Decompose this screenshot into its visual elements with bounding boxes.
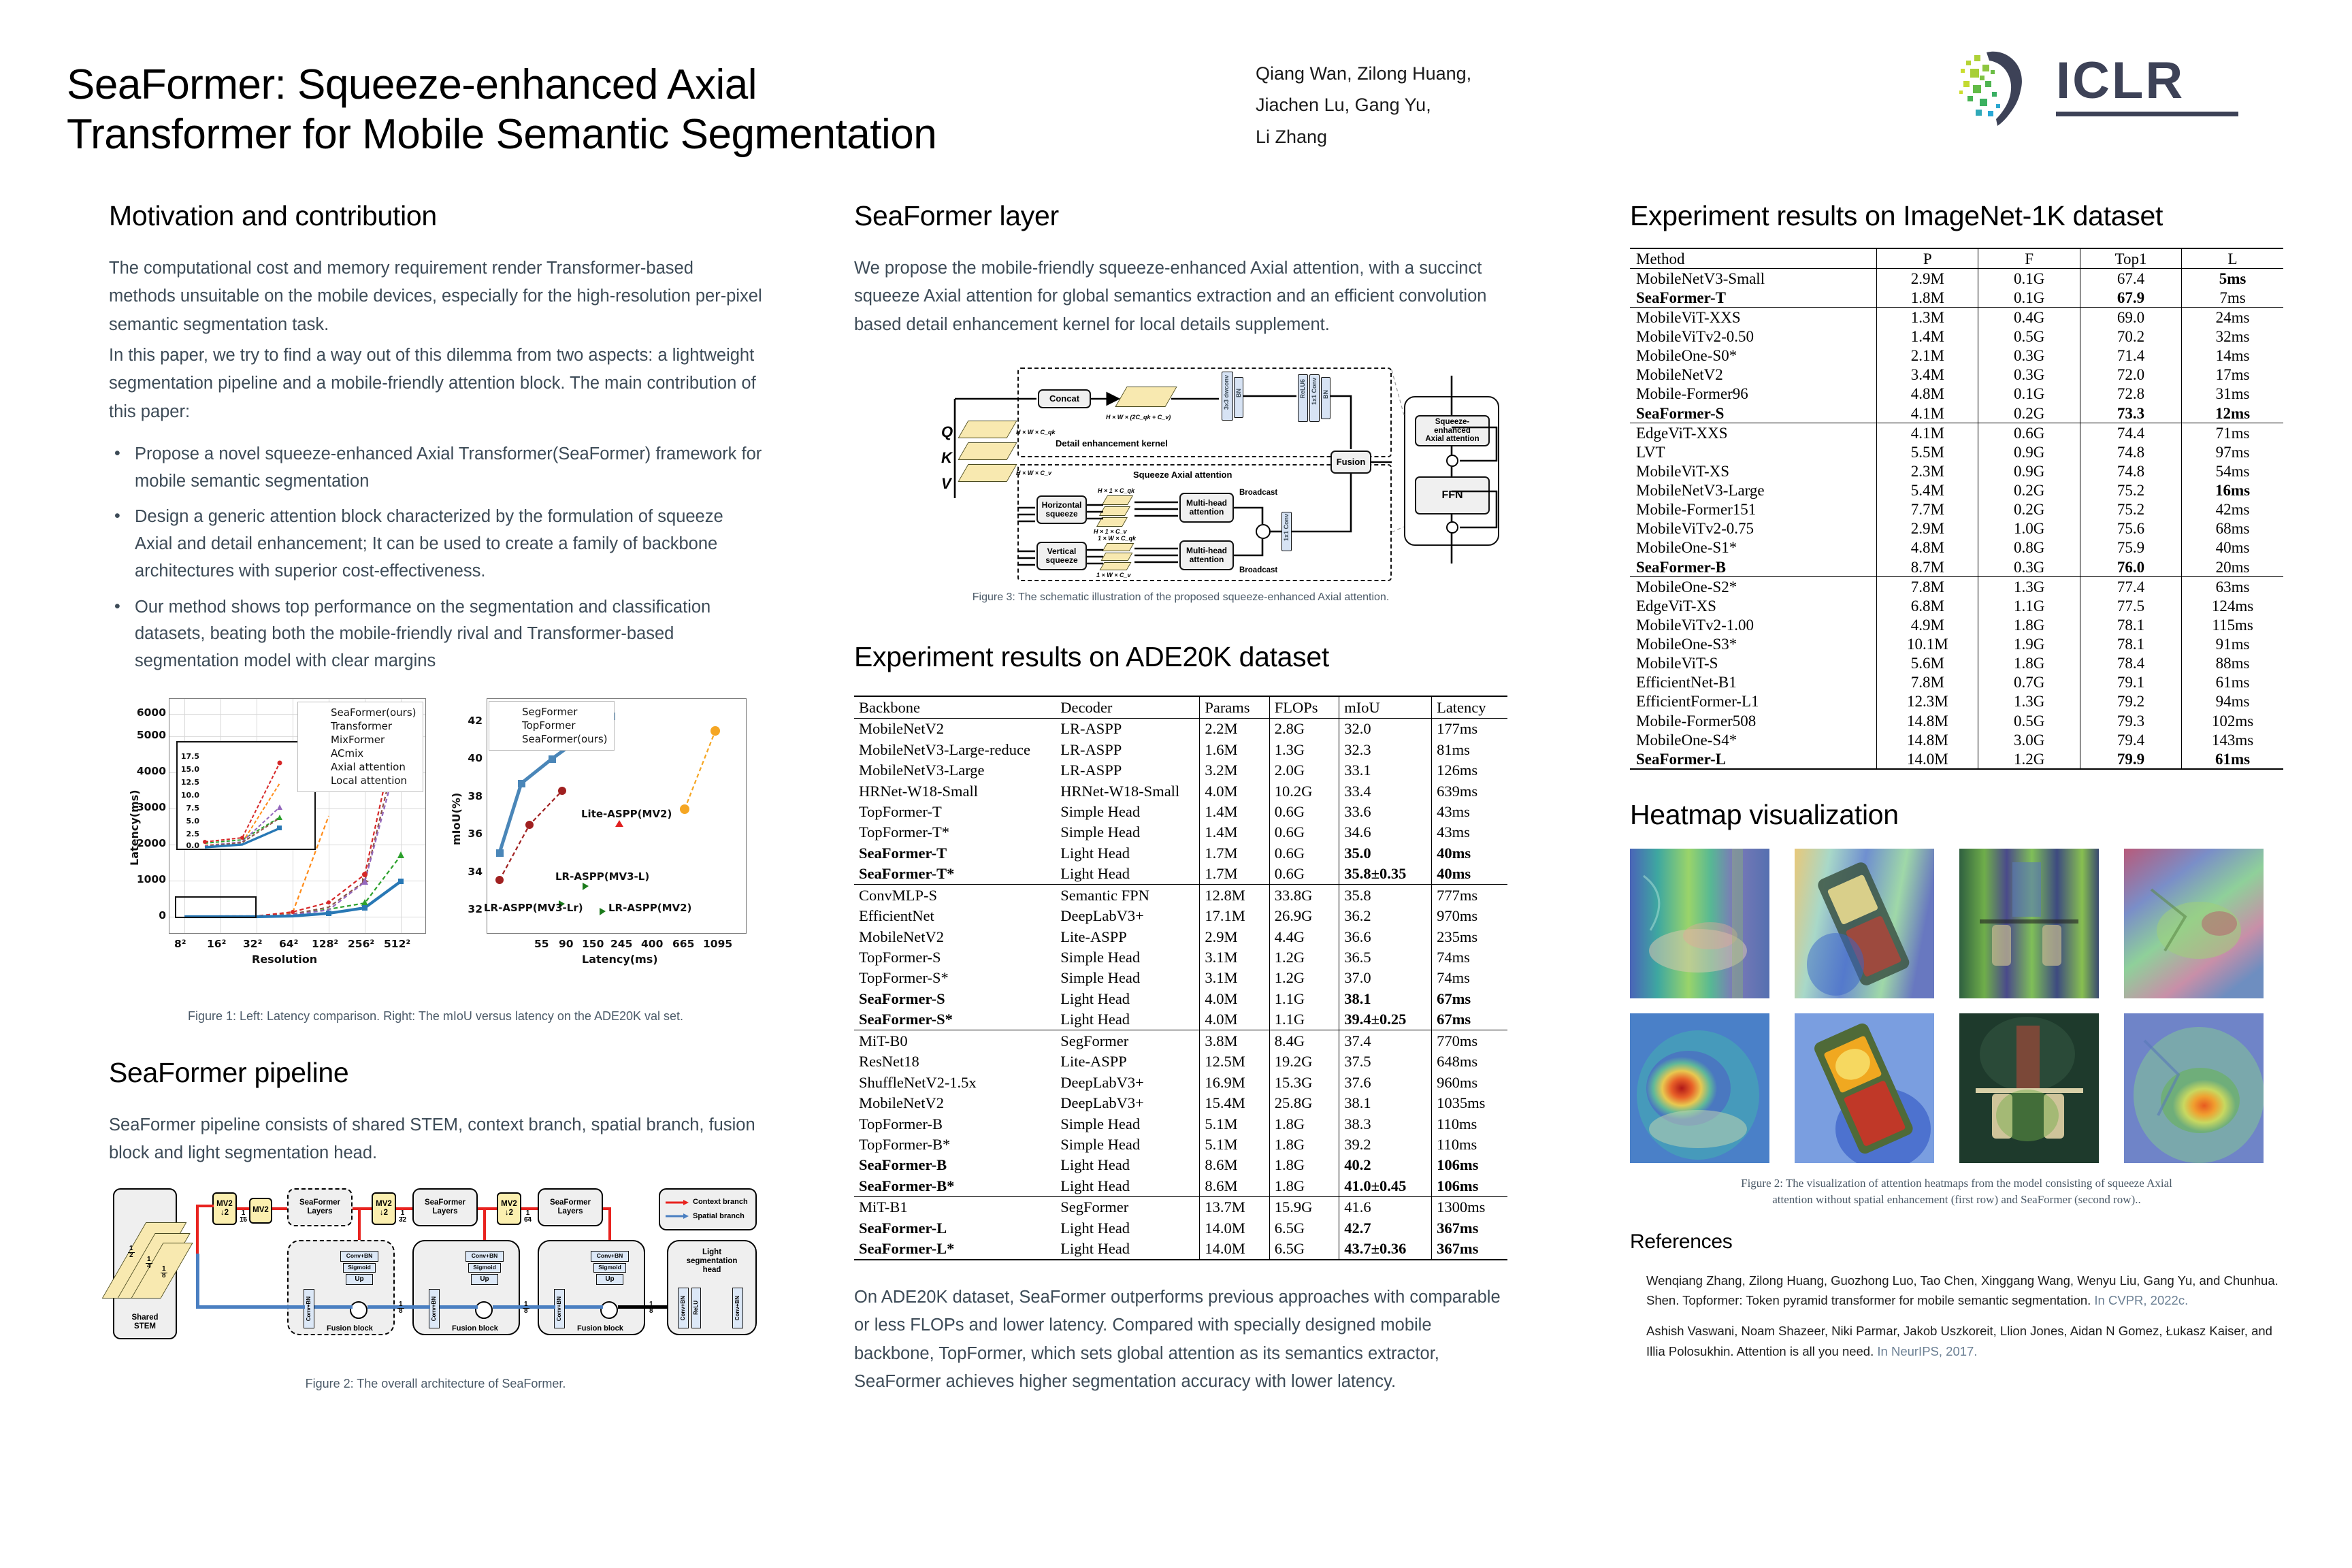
annotation-lr-aspp-mv3lr: LR-ASPP(MV3-Lr): [484, 902, 583, 914]
annotation-lite-aspp: Lite-ASPP(MV2): [581, 808, 672, 820]
concat-block: Concat: [1038, 389, 1091, 408]
cell-top1: 74.8: [2080, 461, 2181, 480]
cell-params: 2.1M: [1877, 346, 1978, 365]
squeeze-axial-label: Squeeze Axial attention: [1133, 470, 1232, 480]
hsq-sheet-1: [1102, 495, 1133, 505]
table-header-row: Backbone Decoder Params FLOPs mIoU Laten…: [854, 696, 1507, 718]
cell-backbone: TopFormer-B: [854, 1113, 1056, 1134]
cell-latency: 61ms: [2182, 749, 2283, 769]
cell-top1: 78.1: [2080, 615, 2181, 634]
mv2-down-2: MV2↓2: [372, 1192, 396, 1225]
table-row: SeaFormer-L14.0M1.2G79.961ms: [1630, 749, 2283, 769]
cell-latency: 67ms: [1432, 988, 1507, 1009]
cell-params: 5.4M: [1877, 481, 1978, 500]
table-row: SeaFormer-T1.8M0.1G67.97ms: [1630, 288, 2283, 308]
cell-latency: 235ms: [1432, 926, 1507, 947]
cell-miou: 37.5: [1339, 1051, 1432, 1072]
cell-latency: 81ms: [1432, 739, 1507, 759]
cell-params: 5.6M: [1877, 654, 1978, 673]
cell-miou: 33.6: [1339, 801, 1432, 821]
table-row: ResNet18Lite-ASPP12.5M19.2G37.5648ms: [854, 1051, 1507, 1072]
seaformer-layers-2: SeaFormerLayers: [412, 1188, 478, 1226]
col-method: Method: [1630, 248, 1877, 269]
cell-miou: 38.3: [1339, 1113, 1432, 1134]
table-row: EdgeViT-XXS4.1M0.6G74.471ms: [1630, 423, 2283, 443]
cell-flops: 6.5G: [1269, 1218, 1339, 1238]
cell-latency: 20ms: [2182, 557, 2283, 577]
cell-miou: 35.0: [1339, 843, 1432, 863]
x-tick: 16²: [207, 938, 226, 950]
chart-legend: SegFormer TopFormer SeaFormer(ours): [489, 701, 615, 751]
cell-method: MobileOne-S0*: [1630, 346, 1877, 365]
sigmoid-1: Sigmoid: [343, 1263, 376, 1273]
chart-inset: 17.5 15.0 12.5 10.0 7.5 5.0 2.5 0.0: [176, 741, 316, 850]
cell-latency: 71ms: [2182, 423, 2283, 443]
y-tick: 5000: [125, 729, 166, 741]
cell-params: 3.1M: [1200, 968, 1269, 988]
cell-latency: 110ms: [1432, 1134, 1507, 1154]
cell-latency: 17ms: [2182, 365, 2283, 385]
table-row: MobileNetV3-LargeLR-ASPP3.2M2.0G33.1126m…: [854, 760, 1507, 781]
ade20k-conclusion: On ADE20K dataset, SeaFormer outperforms…: [854, 1284, 1507, 1396]
conv1x1-block-1: 1x1 Conv: [1309, 374, 1320, 422]
fusion-block-label-1: Fusion block: [327, 1324, 373, 1333]
legend-label: SegFormer: [522, 706, 577, 718]
figure-2-pipeline: SharedSTEM 12 14 18 MV2↓2 MV2 SeaFormerL…: [109, 1180, 762, 1371]
cell-miou: 33.4: [1339, 781, 1432, 801]
seaformer-layer-para: We propose the mobile-friendly squeeze-e…: [854, 255, 1507, 339]
latency-comparison-chart: 17.5 15.0 12.5 10.0 7.5 5.0 2.5 0.0: [116, 696, 432, 978]
residual-add-1: [1446, 455, 1458, 467]
fusion-block: Fusion: [1330, 451, 1371, 474]
cell-params: 2.9M: [1200, 926, 1269, 947]
annotation-lr-aspp-mv2: LR-ASPP(MV2): [608, 902, 691, 914]
cell-top1: 79.3: [2080, 711, 2181, 730]
table-row: MobileOne-S3*10.1M1.9G78.191ms: [1630, 635, 2283, 654]
cell-decoder: Light Head: [1056, 988, 1200, 1009]
motivation-heading: Motivation and contribution: [109, 201, 762, 231]
multiply-node-1: [350, 1301, 367, 1319]
cell-latency: 367ms: [1432, 1218, 1507, 1238]
heatmap-fish-seaformer: [1630, 1013, 1769, 1163]
table-row: MobileViT-S5.6M1.8G78.488ms: [1630, 654, 2283, 673]
chart-legend: SeaFormer(ours) Transformer MixFormer: [297, 702, 423, 792]
q-sheet: [958, 421, 1017, 438]
cell-decoder: DeepLabV3+: [1056, 906, 1200, 926]
cell-backbone: SeaFormer-T*: [854, 864, 1056, 885]
stem-frac-quarter: 14: [146, 1256, 152, 1270]
table-row: MobileNetV23.4M0.3G72.017ms: [1630, 365, 2283, 385]
cell-params: 2.9M: [1877, 519, 1978, 538]
sigmoid-2: Sigmoid: [468, 1263, 501, 1273]
cell-params: 1.4M: [1200, 822, 1269, 843]
cell-latency: 1035ms: [1432, 1093, 1507, 1113]
heatmap-phone-axial: [1795, 849, 1934, 998]
cell-flops: 1.8G: [1978, 615, 2080, 634]
cell-miou: 38.1: [1339, 1093, 1432, 1113]
cell-latency: 16ms: [2182, 481, 2283, 500]
cell-latency: 74ms: [1432, 947, 1507, 968]
table-row: SeaFormer-S*Light Head4.0M1.1G39.4±0.256…: [854, 1009, 1507, 1030]
heatmap-phone-seaformer: [1795, 1013, 1934, 1163]
cell-params: 1.3M: [1877, 308, 1978, 327]
cell-params: 8.6M: [1200, 1175, 1269, 1196]
conv-bn-up-2: Conv+BN: [465, 1251, 504, 1262]
cell-method: Mobile-Former508: [1630, 711, 1877, 730]
cell-flops: 6.5G: [1269, 1239, 1339, 1260]
broadcast-label-top: Broadcast: [1239, 489, 1277, 497]
title-line-2: Transformer for Mobile Semantic Segmenta…: [67, 110, 1169, 159]
vsq-sheet-2: [1101, 553, 1133, 561]
mv2-block: MV2: [249, 1198, 272, 1224]
table-row: EfficientNetDeepLabV3+17.1M26.9G36.2970m…: [854, 906, 1507, 926]
heatmap-image: [2124, 849, 2264, 998]
cell-method: EdgeViT-XS: [1630, 596, 1877, 615]
cell-top1: 75.2: [2080, 500, 2181, 519]
iclr-text: ICLR: [2056, 56, 2238, 105]
cell-latency: 88ms: [2182, 654, 2283, 673]
cell-latency: 40ms: [2182, 538, 2283, 557]
cell-flops: 1.8G: [1269, 1113, 1339, 1134]
cell-flops: 0.4G: [1978, 308, 2080, 327]
cell-params: 8.7M: [1877, 557, 1978, 577]
cell-params: 3.8M: [1200, 1030, 1269, 1051]
table-row: EdgeViT-XS6.8M1.1G77.5124ms: [1630, 596, 2283, 615]
table-row: EfficientNet-B17.8M0.7G79.161ms: [1630, 673, 2283, 692]
cell-params: 1.8M: [1877, 288, 1978, 308]
cell-decoder: DeepLabV3+: [1056, 1072, 1200, 1092]
table-row: SeaFormer-LLight Head14.0M6.5G42.7367ms: [854, 1218, 1507, 1238]
sea-attention-block: Squeeze-enhancedAxial attention: [1415, 415, 1490, 446]
cell-params: 4.8M: [1877, 385, 1978, 404]
legend-item-spatial: Spatial branch: [666, 1212, 745, 1220]
cell-flops: 0.9G: [1978, 442, 2080, 461]
conv-bn-spatial-2: Conv+BN: [429, 1289, 440, 1328]
cell-flops: 0.2G: [1978, 404, 2080, 423]
reference-venue: In CVPR, 2022c.: [2094, 1293, 2188, 1307]
miou-latency-chart: Lite-ASPP(MV2) LR-ASPP(MV3-L) LR-ASPP(MV…: [446, 696, 755, 978]
heatmap-caption: Figure 2: The visualization of attention…: [1630, 1175, 2283, 1209]
cell-flops: 0.6G: [1269, 801, 1339, 821]
cell-params: 5.1M: [1200, 1134, 1269, 1154]
cell-flops: 1.3G: [1978, 692, 2080, 711]
cell-method: SeaFormer-B: [1630, 557, 1877, 577]
iclr-logo: ICLR: [1957, 42, 2256, 131]
cell-method: MobileViTv2-0.50: [1630, 327, 1877, 346]
y-tick: 6000: [125, 706, 166, 719]
chart-plot-area: Lite-ASPP(MV2) LR-ASPP(MV3-L) LR-ASPP(MV…: [487, 698, 747, 934]
vertical-squeeze-block: Verticalsqueeze: [1036, 542, 1087, 570]
cell-decoder: Light Head: [1056, 864, 1200, 885]
cell-flops: 0.9G: [1978, 461, 2080, 480]
frac-8-a: 18: [397, 1301, 404, 1315]
legend-label: ACmix: [331, 747, 363, 759]
lr-aspp-mv2-marker: [600, 908, 606, 915]
col-top1: Top1: [2080, 248, 2181, 269]
cell-top1: 79.1: [2080, 673, 2181, 692]
ade20k-table-body: MobileNetV2LR-ASPP2.2M2.8G32.0177msMobil…: [854, 718, 1507, 1260]
cell-latency: 61ms: [2182, 673, 2283, 692]
cell-method: Mobile-Former151: [1630, 500, 1877, 519]
page-title: SeaFormer: Squeeze-enhanced Axial Transf…: [67, 60, 1169, 159]
table-row: MobileViTv2-0.752.9M1.0G75.668ms: [1630, 519, 2283, 538]
dim-h-v: H × 1 × C_v: [1094, 528, 1127, 535]
dwconv-block: 3x3 dwconv: [1222, 372, 1233, 421]
table-row: SeaFormer-TLight Head1.7M0.6G35.040ms: [854, 843, 1507, 863]
heatmap-grid: [1630, 849, 2283, 1163]
cell-params: 12.8M: [1200, 885, 1269, 906]
table-row: SeaFormer-BLight Head8.6M1.8G40.2106ms: [854, 1155, 1507, 1175]
sigmoid-3: Sigmoid: [593, 1263, 626, 1273]
cell-params: 4.1M: [1877, 404, 1978, 423]
q-label: Q: [941, 423, 953, 441]
cell-miou: 42.7: [1339, 1218, 1432, 1238]
cell-params: 4.0M: [1200, 781, 1269, 801]
table-row: SeaFormer-B8.7M0.3G76.020ms: [1630, 557, 2283, 577]
table-row: MobileViT-XXS1.3M0.4G69.024ms: [1630, 308, 2283, 327]
references-heading: References: [1630, 1230, 2283, 1253]
cell-miou: 35.8±0.35: [1339, 864, 1432, 885]
multiply-node-3: [600, 1301, 618, 1319]
shared-stem-label: SharedSTEM: [132, 1313, 159, 1331]
cell-flops: 1.1G: [1978, 596, 2080, 615]
y-axis-label: Latency(ms): [128, 789, 141, 866]
cell-top1: 74.4: [2080, 423, 2181, 443]
cell-method: MobileOne-S2*: [1630, 577, 1877, 597]
cell-decoder: Light Head: [1056, 1239, 1200, 1260]
iclr-brain-icon: [1957, 46, 2038, 127]
cell-latency: 115ms: [2182, 615, 2283, 634]
cell-latency: 40ms: [1432, 843, 1507, 863]
cell-backbone: MobileNetV2: [854, 718, 1056, 739]
x-tick: 55: [534, 938, 549, 950]
cell-top1: 69.0: [2080, 308, 2181, 327]
cell-params: 1.7M: [1200, 864, 1269, 885]
heatmap-image: [1630, 1013, 1769, 1163]
cell-latency: 5ms: [2182, 269, 2283, 289]
cell-decoder: LR-ASPP: [1056, 760, 1200, 781]
table-row: MobileNetV3-Large-reduceLR-ASPP1.6M1.3G3…: [854, 739, 1507, 759]
cell-flops: 0.1G: [1978, 385, 2080, 404]
cell-params: 4.1M: [1877, 423, 1978, 443]
cell-method: MobileViTv2-1.00: [1630, 615, 1877, 634]
frac-16: 116: [240, 1210, 247, 1224]
cell-flops: 2.0G: [1269, 760, 1339, 781]
table-row: MobileViT-XS2.3M0.9G74.854ms: [1630, 461, 2283, 480]
cell-params: 4.0M: [1200, 988, 1269, 1009]
cell-backbone: MobileNetV3-Large: [854, 760, 1056, 781]
reference-venue: In NeurIPS, 2017.: [1877, 1344, 1977, 1358]
legend-item: Transformer: [303, 719, 416, 733]
cell-params: 6.8M: [1877, 596, 1978, 615]
cell-flops: 1.8G: [1978, 654, 2080, 673]
cell-decoder: Lite-ASPP: [1056, 926, 1200, 947]
cell-latency: 777ms: [1432, 885, 1507, 906]
cell-params: 1.4M: [1200, 801, 1269, 821]
cell-decoder: Simple Head: [1056, 947, 1200, 968]
cell-method: MobileNetV2: [1630, 365, 1877, 385]
head-conv-bn-1: Conv+BN: [678, 1288, 689, 1328]
cell-latency: 110ms: [1432, 1113, 1507, 1134]
cell-flops: 0.2G: [1978, 481, 2080, 500]
legend-item: ACmix: [303, 747, 416, 760]
cell-decoder: DeepLabV3+: [1056, 1093, 1200, 1113]
y-tick: 32: [453, 903, 483, 915]
cell-params: 2.3M: [1877, 461, 1978, 480]
cell-top1: 77.5: [2080, 596, 2181, 615]
cell-params: 17.1M: [1200, 906, 1269, 926]
cell-params: 4.9M: [1877, 615, 1978, 634]
cell-method: MobileViT-S: [1630, 654, 1877, 673]
col-decoder: Decoder: [1056, 696, 1200, 718]
cell-method: LVT: [1630, 442, 1877, 461]
cell-latency: 367ms: [1432, 1239, 1507, 1260]
cell-latency: 40ms: [1432, 864, 1507, 885]
relu6-block: ReLU6: [1298, 374, 1308, 422]
up-2: Up: [471, 1274, 498, 1285]
heatmap-caption-line-2: attention without spatial enhancement (f…: [1630, 1192, 2283, 1209]
conv-bn-spatial-1: Conv+BN: [304, 1289, 314, 1328]
table-row: MiT-B1SegFormer13.7M15.9G41.61300ms: [854, 1196, 1507, 1218]
v-label: V: [941, 475, 951, 493]
cell-decoder: SegFormer: [1056, 1196, 1200, 1218]
legend-item: Local attention: [303, 774, 416, 787]
cell-method: EfficientNet-B1: [1630, 673, 1877, 692]
heatmap-heading: Heatmap visualization: [1630, 800, 2283, 830]
frac-8-b: 18: [523, 1301, 529, 1315]
cell-decoder: Light Head: [1056, 843, 1200, 863]
seaformer-layers-1: SeaFormerLayers: [287, 1188, 353, 1226]
residual-add-2: [1446, 521, 1458, 534]
column-left: Motivation and contribution The computat…: [109, 201, 762, 1392]
table-row: MobileOne-S0*2.1M0.3G71.414ms: [1630, 346, 2283, 365]
x-tick: 64²: [279, 938, 298, 950]
cell-top1: 78.4: [2080, 654, 2181, 673]
table-row: MobileViTv2-0.501.4M0.5G70.232ms: [1630, 327, 2283, 346]
heatmap-fish-axial: [1630, 849, 1769, 998]
table-row: EfficientFormer-L112.3M1.3G79.294ms: [1630, 692, 2283, 711]
cell-top1: 79.2: [2080, 692, 2181, 711]
table-row: TopFormer-T*Simple Head1.4M0.6G34.643ms: [854, 822, 1507, 843]
cell-params: 15.4M: [1200, 1093, 1269, 1113]
cell-params: 12.5M: [1200, 1051, 1269, 1072]
cell-flops: 1.2G: [1978, 749, 2080, 769]
cell-decoder: HRNet-W18-Small: [1056, 781, 1200, 801]
cell-decoder: Simple Head: [1056, 801, 1200, 821]
cell-decoder: Simple Head: [1056, 822, 1200, 843]
pipeline-heading: SeaFormer pipeline: [109, 1058, 762, 1088]
chart-plot-area: 17.5 15.0 12.5 10.0 7.5 5.0 2.5 0.0: [169, 698, 426, 934]
cell-latency: 42ms: [2182, 500, 2283, 519]
legend-label: TopFormer: [522, 719, 576, 732]
list-item: Propose a novel squeeze-enhanced Axial T…: [109, 441, 762, 495]
cell-top1: 78.1: [2080, 635, 2181, 654]
col-f: F: [1978, 248, 2080, 269]
mv2-down-1: MV2↓2: [212, 1192, 237, 1225]
cell-decoder: Light Head: [1056, 1009, 1200, 1030]
legend-context-label: Context branch: [693, 1198, 748, 1206]
cell-miou: 35.8: [1339, 885, 1432, 906]
x-tick: 128²: [312, 938, 338, 950]
cell-latency: 43ms: [1432, 822, 1507, 843]
iclr-wordmark: ICLR: [2056, 56, 2238, 116]
figure-3-caption: Figure 3: The schematic illustration of …: [854, 589, 1507, 605]
cell-top1: 71.4: [2080, 346, 2181, 365]
table-row: MiT-B0SegFormer3.8M8.4G37.4770ms: [854, 1030, 1507, 1051]
iclr-underline: [2056, 112, 2238, 116]
y-tick: 0: [125, 909, 166, 921]
cell-latency: 12ms: [2182, 404, 2283, 423]
cell-method: MobileViT-XXS: [1630, 308, 1877, 327]
cell-latency: 97ms: [2182, 442, 2283, 461]
cell-latency: 31ms: [2182, 385, 2283, 404]
table-row: TopFormer-S*Simple Head3.1M1.2G37.074ms: [854, 968, 1507, 988]
cell-latency: 177ms: [1432, 718, 1507, 739]
cell-method: EfficientFormer-L1: [1630, 692, 1877, 711]
cell-backbone: MobileNetV3-Large-reduce: [854, 739, 1056, 759]
cell-params: 3.4M: [1877, 365, 1978, 385]
cell-params: 14.8M: [1877, 730, 1978, 749]
cell-latency: 960ms: [1432, 1072, 1507, 1092]
table-row: SeaFormer-L*Light Head14.0M6.5G43.7±0.36…: [854, 1239, 1507, 1260]
heatmap-image: [1795, 1013, 1934, 1163]
seaformer-layer-heading: SeaFormer layer: [854, 201, 1507, 231]
list-item: Design a generic attention block charact…: [109, 504, 762, 585]
mha-block-horizontal: Multi-headattention: [1179, 493, 1234, 523]
imagenet-table-body: MobileNetV3-Small2.9M0.1G67.45msSeaForme…: [1630, 269, 2283, 770]
cell-latency: 91ms: [2182, 635, 2283, 654]
cell-top1: 70.2: [2080, 327, 2181, 346]
sum-node: [1256, 524, 1271, 539]
cell-latency: 94ms: [2182, 692, 2283, 711]
cell-method: MobileOne-S1*: [1630, 538, 1877, 557]
heatmap-bottles-axial: [1959, 849, 2099, 998]
table-row: TopFormer-SSimple Head3.1M1.2G36.574ms: [854, 947, 1507, 968]
horizontal-squeeze-block: Horizontalsqueeze: [1036, 495, 1087, 524]
vsq-sheet-1: [1102, 543, 1134, 551]
x-tick: 8²: [174, 938, 186, 950]
cell-latency: 124ms: [2182, 596, 2283, 615]
hsq-sheet-2: [1099, 506, 1130, 516]
table-header-row: Method P F Top1 L: [1630, 248, 2283, 269]
cell-miou: 43.7±0.36: [1339, 1239, 1432, 1260]
cell-backbone: SeaFormer-B: [854, 1155, 1056, 1175]
references-list: Wenqiang Zhang, Zilong Huang, Guozhong L…: [1630, 1271, 2283, 1361]
cell-flops: 26.9G: [1269, 906, 1339, 926]
cell-flops: 0.3G: [1978, 557, 2080, 577]
cell-params: 7.7M: [1877, 500, 1978, 519]
frac-32: 132: [399, 1210, 406, 1224]
up-1: Up: [346, 1274, 373, 1285]
cell-miou: 37.6: [1339, 1072, 1432, 1092]
cell-miou: 37.4: [1339, 1030, 1432, 1051]
cell-params: 3.2M: [1200, 760, 1269, 781]
lite-aspp-marker: [615, 820, 623, 827]
cell-latency: 770ms: [1432, 1030, 1507, 1051]
cell-top1: 72.8: [2080, 385, 2181, 404]
y-tick: 34: [453, 866, 483, 878]
cell-latency: 63ms: [2182, 577, 2283, 597]
cell-top1: 67.4: [2080, 269, 2181, 289]
cell-decoder: Semantic FPN: [1056, 885, 1200, 906]
legend-label: MixFormer: [331, 734, 385, 746]
cell-latency: 126ms: [1432, 760, 1507, 781]
cell-miou: 39.2: [1339, 1134, 1432, 1154]
cell-miou: 41.0±0.45: [1339, 1175, 1432, 1196]
legend-spatial-label: Spatial branch: [693, 1212, 745, 1220]
col-params: Params: [1200, 696, 1269, 718]
cell-method: MobileNetV3-Large: [1630, 481, 1877, 500]
